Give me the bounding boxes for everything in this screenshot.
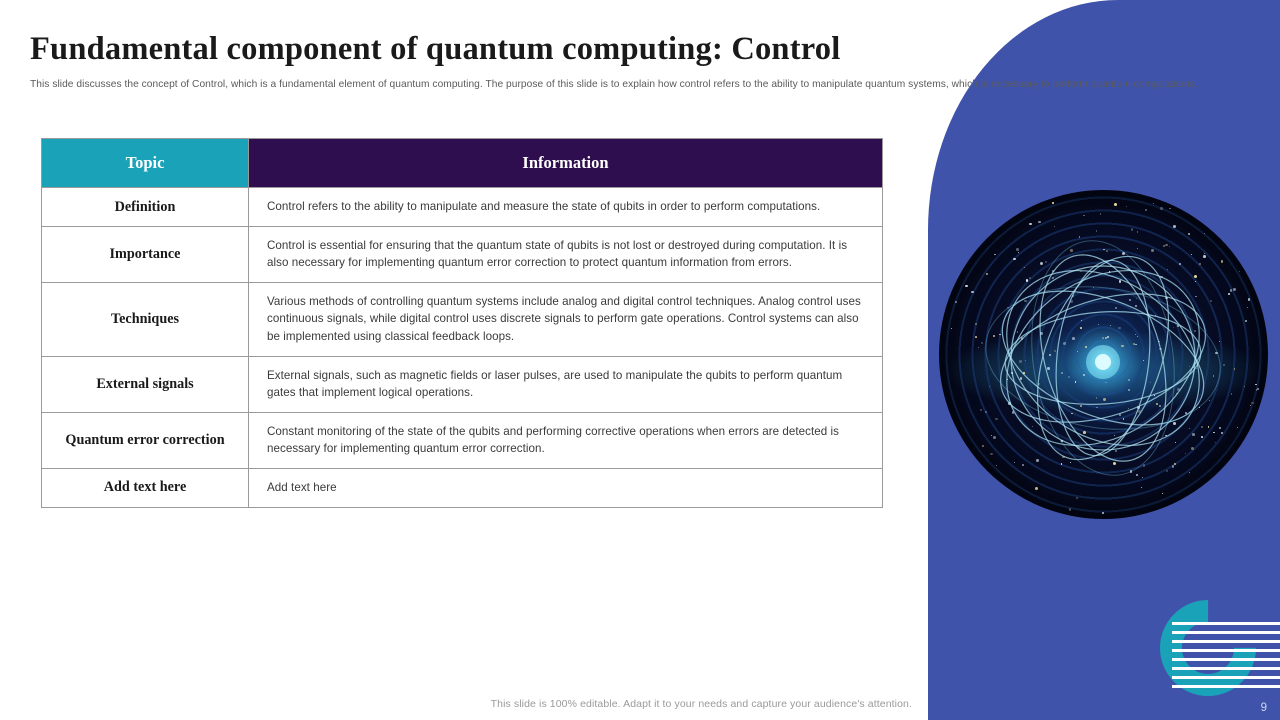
table-row: ImportanceControl is essential for ensur… bbox=[42, 226, 883, 282]
page-title: Fundamental component of quantum computi… bbox=[30, 31, 980, 68]
table-cell-information: Control is essential for ensuring that t… bbox=[249, 226, 883, 282]
white-stripes-decoration bbox=[1172, 622, 1280, 688]
table-body: DefinitionControl refers to the ability … bbox=[42, 188, 883, 508]
table-cell-information: External signals, such as magnetic field… bbox=[249, 356, 883, 412]
table-row: TechniquesVarious methods of controlling… bbox=[42, 282, 883, 356]
table-cell-topic: Definition bbox=[42, 188, 249, 227]
table-cell-topic: Quantum error correction bbox=[42, 412, 249, 468]
table-cell-topic: Importance bbox=[42, 226, 249, 282]
table-cell-information: Various methods of controlling quantum s… bbox=[249, 282, 883, 356]
orbital-rings-icon bbox=[939, 190, 1268, 519]
table-cell-information: Constant monitoring of the state of the … bbox=[249, 412, 883, 468]
editable-footer-note: This slide is 100% editable. Adapt it to… bbox=[0, 698, 912, 710]
quantum-image bbox=[930, 181, 1277, 528]
column-header-topic: Topic bbox=[42, 139, 249, 188]
page-subtitle: This slide discusses the concept of Cont… bbox=[30, 78, 1226, 91]
table-row: External signalsExternal signals, such a… bbox=[42, 356, 883, 412]
table-row: Quantum error correctionConstant monitor… bbox=[42, 412, 883, 468]
page-number: 9 bbox=[1261, 702, 1267, 714]
table-cell-information: Control refers to the ability to manipul… bbox=[249, 188, 883, 227]
table-row: Add text hereAdd text here bbox=[42, 468, 883, 507]
column-header-information: Information bbox=[249, 139, 883, 188]
table-cell-topic: Techniques bbox=[42, 282, 249, 356]
table-row: DefinitionControl refers to the ability … bbox=[42, 188, 883, 227]
table-header-row: Topic Information bbox=[42, 139, 883, 188]
table-head: Topic Information bbox=[42, 139, 883, 188]
quantum-image-inner bbox=[939, 190, 1268, 519]
info-table: Topic Information DefinitionControl refe… bbox=[41, 138, 883, 508]
table-cell-topic: Add text here bbox=[42, 468, 249, 507]
table-cell-information: Add text here bbox=[249, 468, 883, 507]
table-cell-topic: External signals bbox=[42, 356, 249, 412]
